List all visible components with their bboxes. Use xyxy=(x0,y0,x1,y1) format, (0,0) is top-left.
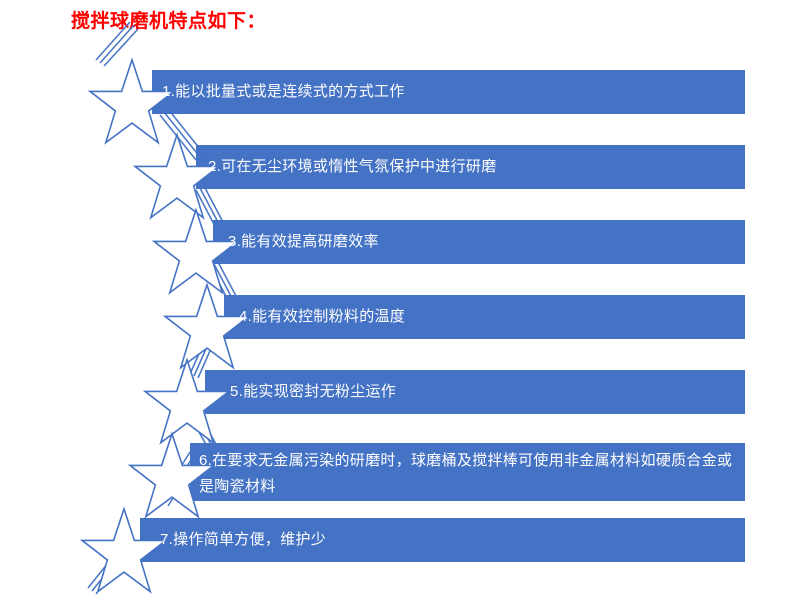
list-item-label-4: 4.能有效控制粉料的温度 xyxy=(239,304,739,330)
star-icon-3 xyxy=(154,210,238,293)
list-item-label-6: 6.在要求无金属污染的研磨时，球磨桶及搅拌棒可使用非金属材料如硬质合金或是陶瓷材… xyxy=(199,448,739,500)
star-icon-5 xyxy=(145,360,229,443)
star-icon-2 xyxy=(135,135,219,218)
list-item-label-2: 2.可在无尘环境或惰性气氛保护中进行研磨 xyxy=(208,154,738,180)
list-item-label-7: 7.操作简单方便，维护少 xyxy=(160,527,738,553)
list-item-label-3: 3.能有效提高研磨效率 xyxy=(228,229,738,255)
list-item-label-5: 5.能实现密封无粉尘运作 xyxy=(230,379,738,405)
slide-canvas: 搅拌球磨机特点如下： xyxy=(0,0,800,612)
list-item-label-1: 1.能以批量式或是连续式的方式工作 xyxy=(162,79,737,105)
star-icon-4 xyxy=(165,285,249,368)
